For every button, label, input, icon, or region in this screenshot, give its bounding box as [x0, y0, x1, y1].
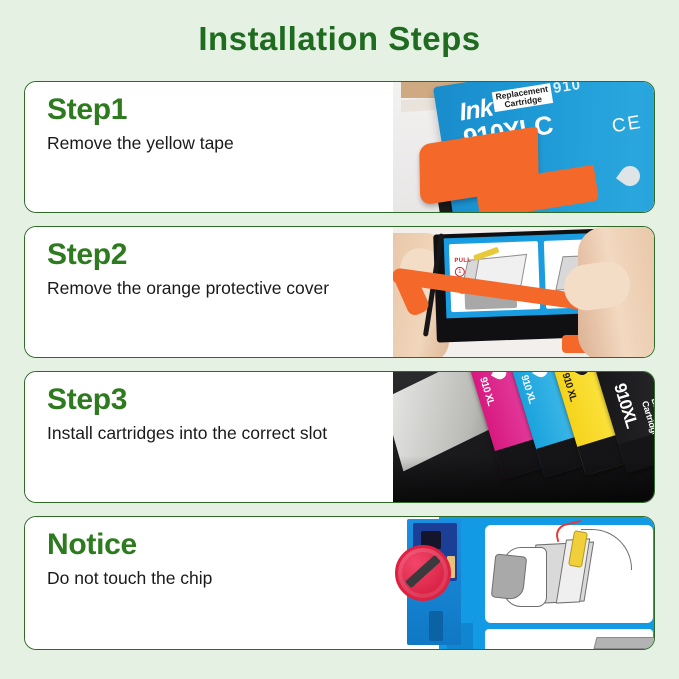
step-card-3-description: Install cartridges into the correct slot	[47, 422, 367, 444]
step2-pull-label: PULL	[454, 257, 471, 264]
installation-steps-page: Installation Steps Step1 Remove the yell…	[0, 0, 679, 679]
step3-cyan-label: 910 XL	[518, 374, 537, 405]
step-card-1: Step1 Remove the yellow tape 910 InkRepl…	[24, 81, 655, 213]
step-card-1-image: 910 InkReplacementCartridge 910XLC (3YL6…	[393, 82, 654, 212]
step-card-3: Step3 Install cartridges into the correc…	[24, 371, 655, 503]
step-card-1-text: Step1 Remove the yellow tape	[25, 82, 393, 212]
step3-yellow-drop-icon	[573, 372, 591, 377]
step3-shadow-overlay	[393, 456, 654, 502]
step-card-2-image: PULL 1 PUSH	[393, 227, 654, 357]
no-entry-icon	[395, 545, 451, 601]
step-card-3-image: 910 XL 910 XL 910 XL 910XL Black Ink Car	[393, 372, 654, 502]
step-card-2-description: Remove the orange protective cover	[47, 277, 367, 299]
notice-illustration-panel-lower	[485, 629, 653, 649]
step3-black-model: 910XL	[609, 381, 641, 430]
step-card-3-heading: Step3	[47, 384, 393, 416]
step1-ce-mark: CE	[610, 112, 643, 138]
notice-card-text: Notice Do not touch the chip	[25, 517, 393, 649]
step3-yellow-label: 910 XL	[560, 372, 579, 403]
step-card-2: Step2 Remove the orange protective cover…	[24, 226, 655, 358]
notice-illustration-grey-bar	[594, 637, 654, 649]
notice-card-description: Do not touch the chip	[47, 567, 367, 589]
step3-magenta-label: 910 XL	[477, 376, 496, 407]
notice-illustration-panel	[485, 525, 653, 623]
notice-illustration-outline	[581, 529, 632, 570]
notice-card: Notice Do not touch the chip	[24, 516, 655, 650]
step-card-2-heading: Step2	[47, 239, 393, 271]
step3-magenta-drop-icon	[491, 372, 509, 382]
step-card-1-heading: Step1	[47, 94, 393, 126]
step-card-3-text: Step3 Install cartridges into the correc…	[25, 372, 393, 502]
step-card-1-description: Remove the yellow tape	[47, 132, 367, 154]
step-card-2-text: Step2 Remove the orange protective cover	[25, 227, 393, 357]
page-title: Installation Steps	[0, 20, 679, 58]
notice-card-heading: Notice	[47, 529, 393, 561]
notice-card-image	[393, 517, 654, 649]
notice-cartridge-notch	[429, 611, 443, 641]
step3-cyan-drop-icon	[532, 372, 550, 379]
